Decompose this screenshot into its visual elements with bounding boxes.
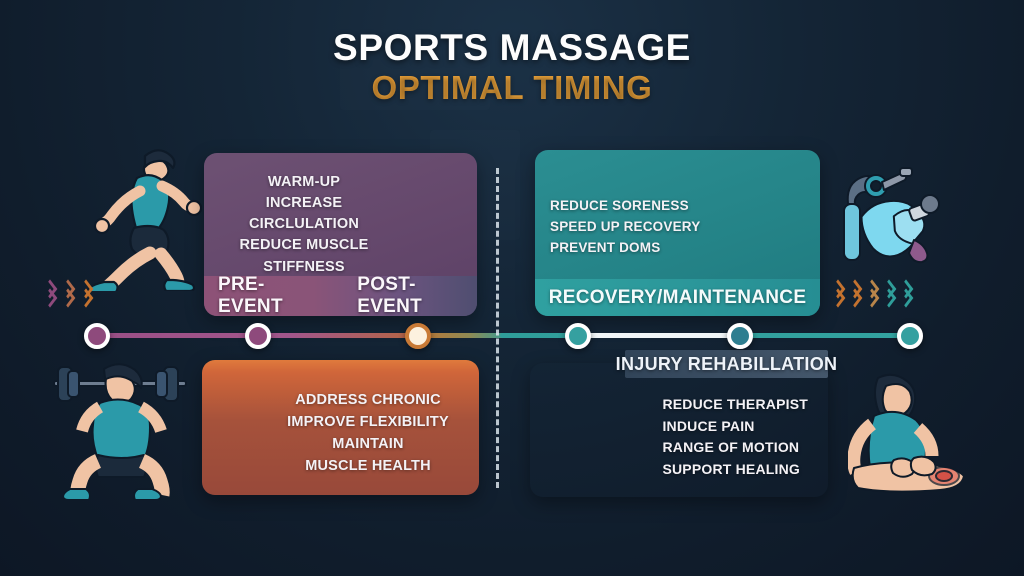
chevron-right-icon	[866, 283, 879, 305]
chevron-right-icon	[80, 283, 93, 305]
card-line: ADDRESS CHRONIC	[275, 389, 461, 411]
timeline-dot-3[interactable]	[405, 323, 431, 349]
chevron-right-icon	[62, 283, 75, 305]
title-main: SPORTS MASSAGE	[0, 28, 1024, 67]
card-line: PREVENT DOMS	[550, 238, 700, 259]
card-line: SUPPORT HEALING	[662, 459, 808, 481]
vertical-dashed-divider	[496, 168, 499, 488]
card-line: RANGE OF MOTION	[662, 437, 808, 459]
card-line: SPEED UP RECOVERY	[550, 217, 700, 238]
timeline-dot-2[interactable]	[245, 323, 271, 349]
chevron-right-icon	[832, 283, 845, 305]
card-chronic-flexibility-lines: ADDRESS CHRONIC IMPROVE FLEXIBILITY MAIN…	[275, 389, 461, 477]
card-pre-post-event[interactable]: WARM-UP INCREASE CIRCLULATION REDUCE MUS…	[204, 153, 477, 316]
label-injury-rehabilitation-text: INJURY REHABILLATION	[616, 354, 838, 375]
card-line: MUSCLE HEALTH	[275, 455, 461, 477]
chevron-right-icon	[883, 283, 896, 305]
timeline-dot-4[interactable]	[565, 323, 591, 349]
card-line: INDUCE PAIN	[662, 416, 808, 438]
leg-pain-treatment-illustration	[848, 372, 998, 497]
timeline-dot-6[interactable]	[897, 323, 923, 349]
card-pre-post-event-footer: PRE-EVENT POST-EVENT	[204, 276, 477, 316]
card-line: REDUCE SORENESS	[550, 196, 700, 217]
card-injury-rehabilitation-lines: REDUCE THERAPIST INDUCE PAIN RANGE OF MO…	[662, 394, 808, 481]
card-chronic-flexibility-body: ADDRESS CHRONIC IMPROVE FLEXIBILITY MAIN…	[202, 360, 479, 495]
card-recovery-maintenance-footer: RECOVERY/MAINTENANCE	[535, 279, 820, 316]
massage-gun-illustration	[838, 166, 950, 266]
runner-illustration	[62, 136, 202, 291]
label-injury-rehabilitation: INJURY REHABILLATION	[625, 350, 828, 378]
chevron-right-icon	[44, 283, 57, 305]
card-line: REDUCE THERAPIST	[662, 394, 808, 416]
card-injury-rehabilitation[interactable]: REDUCE THERAPIST INDUCE PAIN RANGE OF MO…	[530, 363, 828, 497]
chevron-right-icon	[849, 283, 862, 305]
card-line: CIRCLULATION	[224, 214, 384, 235]
card-line: IMPROVE FLEXIBILITY	[275, 411, 461, 433]
timeline-segment-white	[578, 333, 743, 338]
card-line: MAINTAIN	[275, 433, 461, 455]
label-pre-event: PRE-EVENT	[218, 274, 326, 316]
timeline-dot-1[interactable]	[84, 323, 110, 349]
chevron-right-icon	[900, 283, 913, 305]
card-recovery-maintenance[interactable]: REDUCE SORENESS SPEED UP RECOVERY PREVEN…	[535, 150, 820, 316]
card-chronic-flexibility[interactable]: ADDRESS CHRONIC IMPROVE FLEXIBILITY MAIN…	[202, 360, 479, 495]
page-title: SPORTS MASSAGE OPTIMAL TIMING	[0, 28, 1024, 107]
timeline-dot-5[interactable]	[727, 323, 753, 349]
seated-barbell-lifter-illustration	[42, 355, 197, 500]
card-line: WARM-UP	[224, 172, 384, 193]
title-subtitle: OPTIMAL TIMING	[0, 70, 1024, 107]
card-injury-rehabilitation-body: REDUCE THERAPIST INDUCE PAIN RANGE OF MO…	[530, 363, 828, 497]
card-line: INCREASE	[224, 193, 384, 214]
card-recovery-maintenance-lines: REDUCE SORENESS SPEED UP RECOVERY PREVEN…	[550, 196, 700, 259]
card-line: REDUCE MUSCLE	[224, 235, 384, 256]
label-post-event: POST-EVENT	[357, 274, 477, 316]
card-pre-post-event-lines: WARM-UP INCREASE CIRCLULATION REDUCE MUS…	[224, 172, 384, 278]
label-recovery-maintenance: RECOVERY/MAINTENANCE	[549, 287, 807, 309]
